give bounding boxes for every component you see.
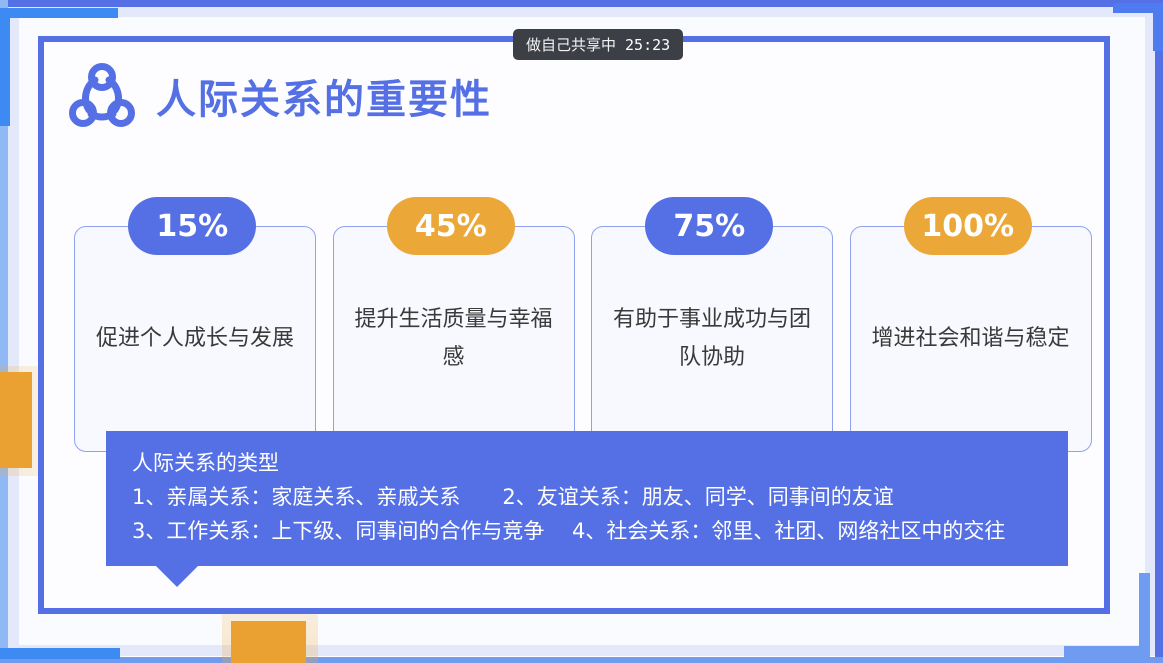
stat-card-body-1: 促进个人成长与发展 — [74, 226, 316, 452]
stat-card-body-4: 增进社会和谐与稳定 — [850, 226, 1092, 452]
accent-top-left-vertical — [0, 8, 10, 126]
slide-panel: 人际关系的重要性 15% 促进个人成长与发展 45% 提升生活质量与幸福感 75… — [38, 36, 1110, 614]
share-timer: 25:23 — [625, 36, 670, 54]
screen-share-banner[interactable]: 做自己共享中 25:23 — [513, 29, 683, 60]
orange-accent-left — [0, 372, 32, 468]
stat-card-text-4: 增进社会和谐与稳定 — [871, 320, 1069, 359]
accent-bottom-left — [0, 648, 120, 659]
frame-rim-right — [1155, 0, 1163, 663]
percent-badge-1: 15% — [128, 197, 256, 255]
stat-card-text-2: 提升生活质量与幸福感 — [352, 301, 556, 378]
stat-card-body-2: 提升生活质量与幸福感 — [333, 226, 575, 452]
slide-header: 人际关系的重要性 — [66, 60, 492, 132]
accent-top-right-vertical — [1153, 3, 1163, 51]
stat-card-text-1: 促进个人成长与发展 — [96, 320, 294, 359]
accent-bottom-right-vertical — [1139, 573, 1150, 657]
page-title: 人际关系的重要性 — [156, 67, 492, 125]
frame-rim-bottom — [0, 657, 1163, 663]
stat-card-text-3: 有助于事业成功与团队协助 — [610, 301, 814, 378]
percent-badge-2: 45% — [387, 197, 515, 255]
panel-title: 人际关系的类型 — [132, 447, 1042, 480]
orange-accent-bottom — [231, 621, 306, 663]
percent-badge-3: 75% — [645, 197, 773, 255]
stat-card-body-3: 有助于事业成功与团队协助 — [591, 226, 833, 452]
presentation-screenshot: 人际关系的重要性 15% 促进个人成长与发展 45% 提升生活质量与幸福感 75… — [0, 0, 1163, 663]
panel-line-2: 3、工作关系：上下级、同事间的合作与竞争 4、社会关系：邻里、社团、网络社区中的… — [132, 514, 1042, 548]
frame-rim-top — [0, 0, 1163, 7]
accent-top-left-horizontal — [0, 8, 118, 18]
accent-bottom-right-horizontal — [1064, 646, 1150, 657]
relationship-types-panel: 人际关系的类型 1、亲属关系：家庭关系、亲戚关系 2、友谊关系：朋友、同学、同事… — [106, 431, 1068, 566]
relationship-network-icon — [66, 60, 138, 132]
panel-line-1: 1、亲属关系：家庭关系、亲戚关系 2、友谊关系：朋友、同学、同事间的友谊 — [132, 480, 1042, 514]
percent-badge-4: 100% — [904, 197, 1032, 255]
share-status-text: 做自己共享中 — [526, 34, 616, 55]
panel-pointer-triangle — [156, 566, 198, 587]
